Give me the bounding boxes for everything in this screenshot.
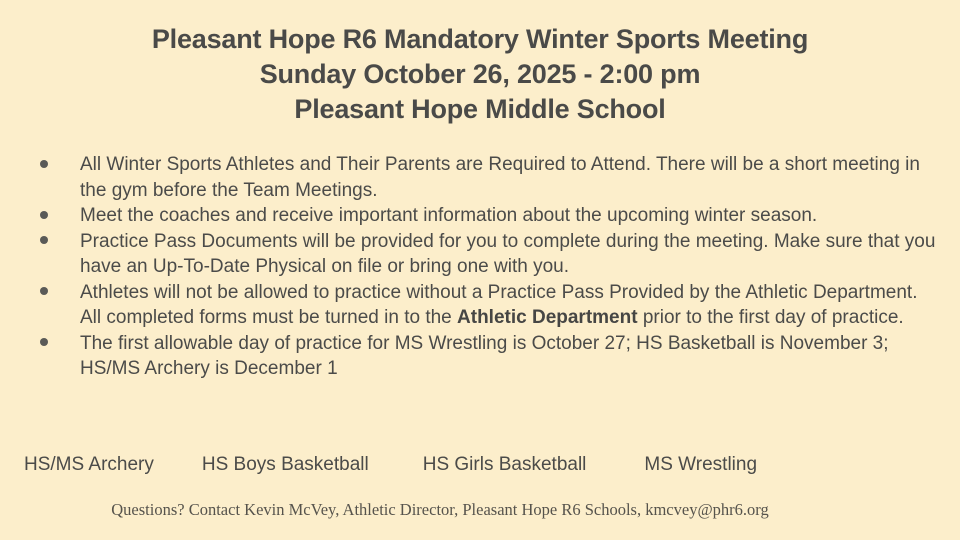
title-line-3: Pleasant Hope Middle School: [0, 92, 960, 127]
list-item-text-part: All Winter Sports Athletes and Their Par…: [80, 154, 920, 201]
list-item-text: Practice Pass Documents will be provided…: [80, 229, 942, 280]
title-line-2: Sunday October 26, 2025 - 2:00 pm: [0, 57, 960, 92]
title-line-1: Pleasant Hope R6 Mandatory Winter Sports…: [0, 22, 960, 57]
list-item-text-part: prior to the first day of practice.: [638, 307, 904, 328]
list-item-text: Athletes will not be allowed to practice…: [80, 280, 942, 331]
sport-item-wrestling: MS Wrestling: [644, 452, 757, 478]
list-item-text-part: Meet the coaches and receive important i…: [80, 205, 817, 226]
page-title: Pleasant Hope R6 Mandatory Winter Sports…: [0, 22, 960, 127]
sport-item-girls-basketball: HS Girls Basketball: [423, 452, 587, 478]
sport-item-archery: HS/MS Archery: [24, 452, 154, 478]
bullet-dot-icon: [24, 229, 80, 255]
sport-item-boys-basketball: HS Boys Basketball: [202, 452, 369, 478]
list-item-text-part: Practice Pass Documents will be provided…: [80, 231, 935, 278]
bullet-dot-icon: [24, 280, 80, 306]
list-item: Athletes will not be allowed to practice…: [24, 280, 944, 331]
list-item: The first allowable day of practice for …: [24, 331, 944, 382]
bullet-dot-icon: [24, 331, 80, 357]
sports-list: HS/MS ArcheryHS Boys BasketballHS Girls …: [24, 452, 936, 478]
bullet-dot-icon: [24, 203, 80, 229]
list-item: Meet the coaches and receive important i…: [24, 203, 944, 229]
bullet-list: All Winter Sports Athletes and Their Par…: [24, 152, 944, 382]
bullet-dot-icon: [24, 152, 80, 178]
list-item-text: All Winter Sports Athletes and Their Par…: [80, 152, 942, 203]
list-item-text: Meet the coaches and receive important i…: [80, 203, 942, 229]
list-item-text-part: The first allowable day of practice for …: [80, 333, 889, 380]
list-item: Practice Pass Documents will be provided…: [24, 229, 944, 280]
list-item: All Winter Sports Athletes and Their Par…: [24, 152, 944, 203]
list-item-text-emphasis: Athletic Department: [457, 307, 638, 328]
footer-contact-note: Questions? Contact Kevin McVey, Athletic…: [0, 499, 880, 521]
list-item-text: The first allowable day of practice for …: [80, 331, 942, 382]
slide-root: Pleasant Hope R6 Mandatory Winter Sports…: [0, 0, 960, 540]
